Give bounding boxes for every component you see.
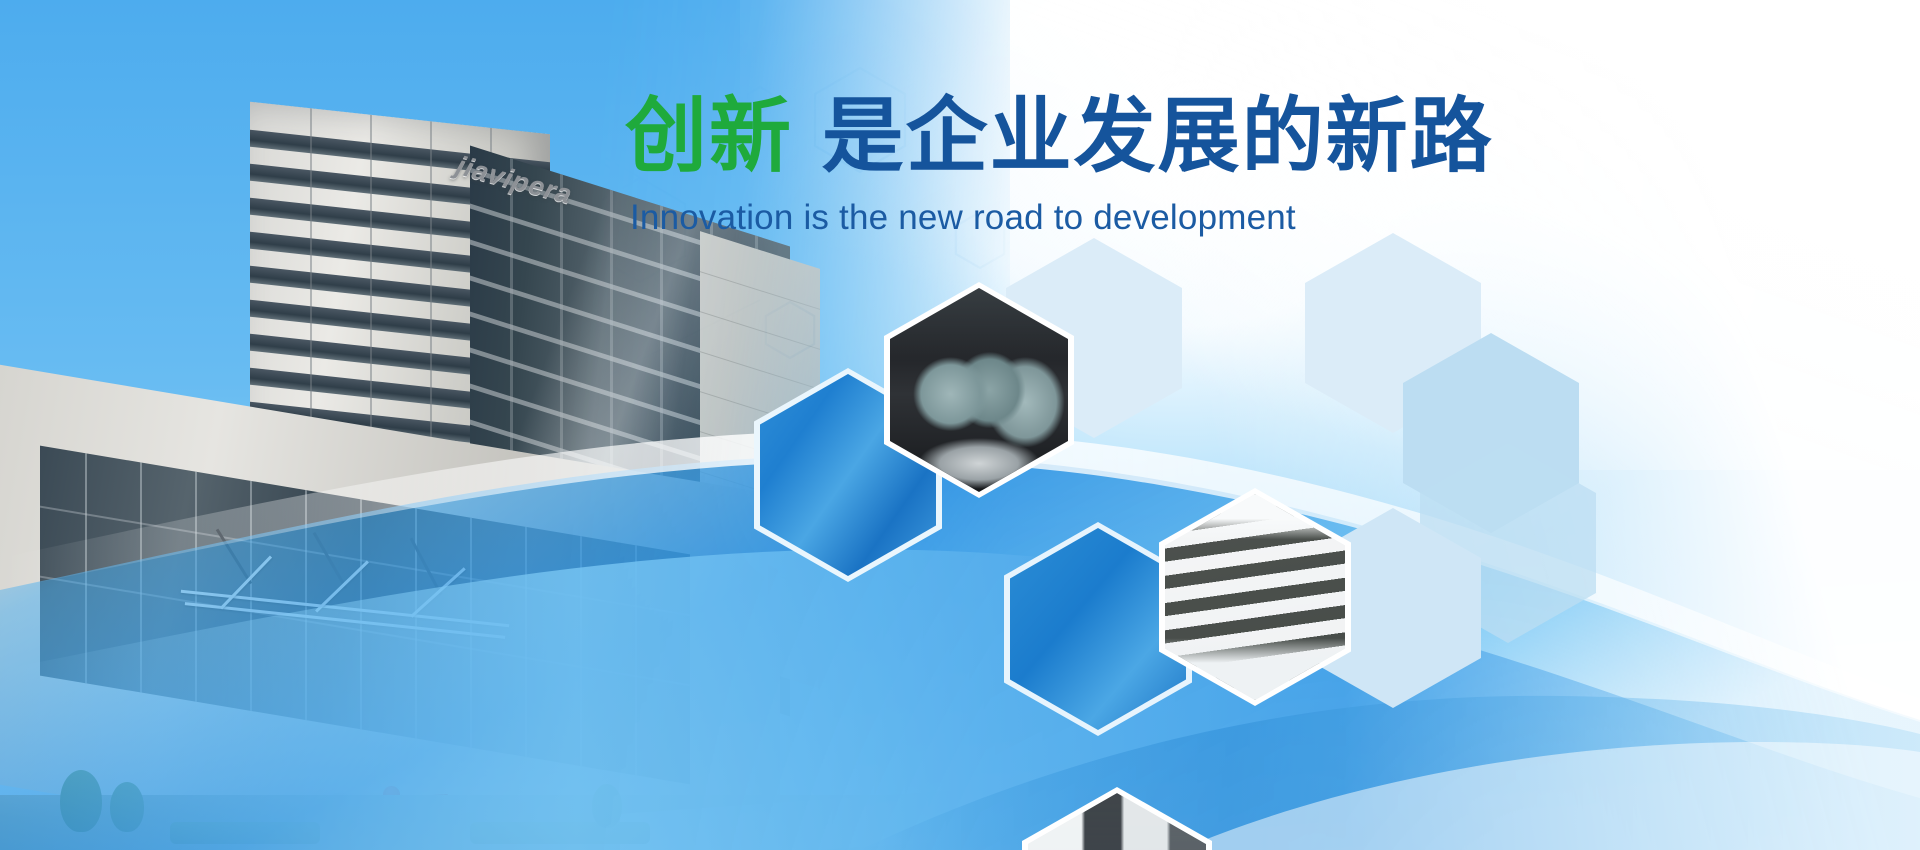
page-title: 创新 是企业发展的新路 [625,96,1494,178]
headline-main-text: 是企业发展的新路 [822,89,1494,184]
hex-photo-lab-assembly [890,288,1068,492]
headline-accent-text: 创新 [625,89,793,184]
hex-photo-cnc-machine [1028,793,1206,850]
hexagon-photo-cluster [740,228,1920,848]
hex-photo-server-rack [1165,494,1345,700]
corporate-banner: 研发中心 R&D CENTER jiavipera [0,0,1920,850]
